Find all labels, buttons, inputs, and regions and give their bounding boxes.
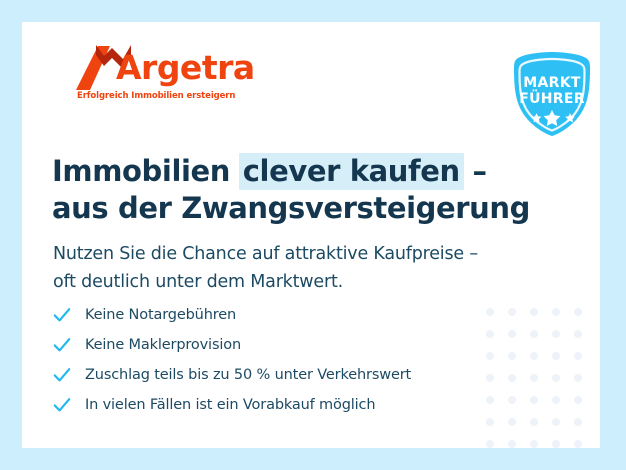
list-item: Zuschlag teils bis zu 50 % unter Verkehr…	[53, 360, 523, 390]
dot	[574, 440, 582, 448]
logo-lockup: Argetra	[76, 42, 316, 90]
dot	[530, 330, 538, 338]
logo-tagline: Erfolgreich Immobilien ersteigern	[77, 91, 316, 101]
logo-wordmark: Argetra	[116, 48, 255, 88]
dot	[530, 396, 538, 404]
dot	[552, 374, 560, 382]
dot	[552, 352, 560, 360]
page-subtitle: Nutzen Sie die Chance auf attraktive Kau…	[53, 240, 553, 296]
headline-text-after: –	[463, 154, 487, 188]
promo-card: Argetra Erfolgreich Immobilien ersteiger…	[22, 22, 600, 448]
dot	[574, 308, 582, 316]
dot-row	[478, 440, 600, 448]
dot	[552, 396, 560, 404]
headline-line-2: aus der Zwangsversteigerung	[52, 190, 552, 227]
markt-fuehrer-badge: MARKT FÜHRER	[510, 50, 594, 138]
dot	[486, 440, 494, 448]
dot	[552, 330, 560, 338]
dot	[552, 418, 560, 426]
dot	[574, 396, 582, 404]
brand-logo[interactable]: Argetra Erfolgreich Immobilien ersteiger…	[76, 42, 316, 101]
benefit-label: Keine Maklerprovision	[85, 337, 241, 353]
headline-highlight: clever kaufen	[239, 153, 464, 190]
subtitle-line-1: Nutzen Sie die Chance auf attraktive Kau…	[53, 244, 478, 264]
page-title: Immobilien clever kaufen – aus der Zwang…	[52, 153, 552, 227]
dot	[530, 308, 538, 316]
dot	[530, 440, 538, 448]
list-item: In vielen Fällen ist ein Vorabkauf mögli…	[53, 390, 523, 420]
headline-text-before: Immobilien	[52, 154, 240, 188]
list-item: Keine Notargebühren	[53, 300, 523, 330]
dot	[574, 374, 582, 382]
check-icon	[53, 336, 71, 354]
headline-line-1: Immobilien clever kaufen –	[52, 153, 552, 190]
benefit-label: Zuschlag teils bis zu 50 % unter Verkehr…	[85, 367, 411, 383]
dot	[530, 374, 538, 382]
benefit-label: In vielen Fällen ist ein Vorabkauf mögli…	[85, 397, 375, 413]
list-item: Keine Maklerprovision	[53, 330, 523, 360]
benefit-label: Keine Notargebühren	[85, 307, 236, 323]
badge-line-1: MARKT	[523, 75, 581, 91]
dot	[530, 352, 538, 360]
dot	[530, 418, 538, 426]
check-icon	[53, 306, 71, 324]
benefits-list: Keine Notargebühren Keine Maklerprovisio…	[53, 300, 523, 420]
dot	[552, 308, 560, 316]
check-icon	[53, 396, 71, 414]
dot	[574, 352, 582, 360]
subtitle-line-2: oft deutlich unter dem Marktwert.	[53, 272, 343, 292]
dot	[508, 440, 516, 448]
page-frame: Argetra Erfolgreich Immobilien ersteiger…	[0, 0, 626, 470]
check-icon	[53, 366, 71, 384]
dot	[552, 440, 560, 448]
shield-badge-icon: MARKT FÜHRER	[510, 50, 594, 138]
badge-line-2: FÜHRER	[519, 89, 585, 107]
dot	[574, 330, 582, 338]
dot	[574, 418, 582, 426]
